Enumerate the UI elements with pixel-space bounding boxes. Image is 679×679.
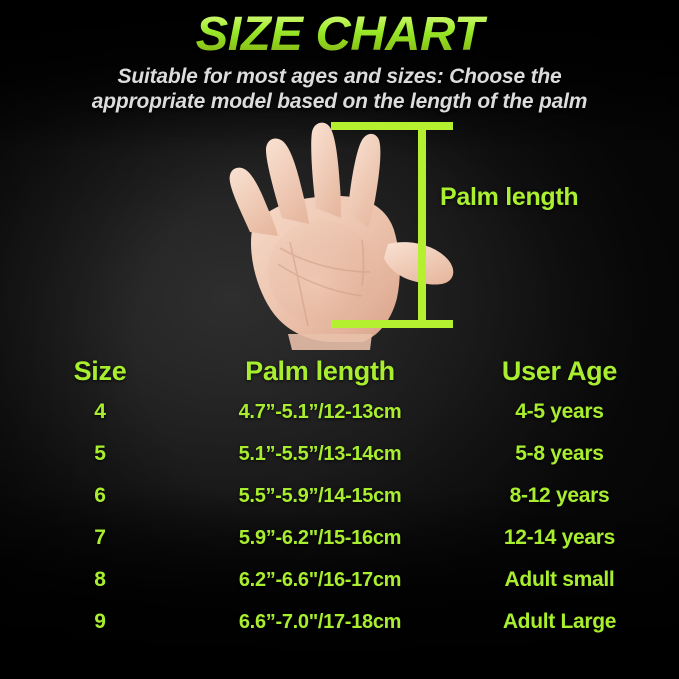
table-row: 8 6.2”-6.6"/16-17cm Adult small — [0, 568, 679, 610]
cell-palm-length: 6.2”-6.6"/16-17cm — [200, 569, 440, 592]
table-row: 4 4.7”-5.1”/12-13cm 4-5 years — [0, 400, 679, 442]
subtitle-line-1: Suitable for most ages and sizes: Choose… — [22, 64, 657, 89]
table-row: 9 6.6”-7.0"/17-18cm Adult Large — [0, 610, 679, 652]
cell-user-age: 5-8 years — [440, 442, 679, 466]
table-row: 7 5.9”-6.2"/15-16cm 12-14 years — [0, 526, 679, 568]
cell-palm-length: 5.9”-6.2"/15-16cm — [200, 527, 440, 550]
cell-user-age: 12-14 years — [440, 526, 679, 550]
cell-user-age: Adult small — [440, 568, 679, 592]
header-size: Size — [0, 356, 200, 387]
subtitle-line-2: appropriate model based on the length of… — [22, 89, 657, 114]
page-title: SIZE CHART — [0, 11, 679, 59]
size-chart-poster: SIZE CHART Suitable for most ages and si… — [0, 0, 679, 679]
finger-pinky — [230, 168, 278, 236]
wrist — [288, 334, 372, 350]
subtitle: Suitable for most ages and sizes: Choose… — [22, 64, 657, 114]
table-header-row: Size Palm length User Age — [0, 356, 679, 400]
hand-illustration — [212, 122, 462, 350]
palm-length-label: Palm length — [440, 183, 578, 212]
cell-size: 8 — [0, 568, 200, 592]
cell-size: 9 — [0, 610, 200, 634]
header-user-age: User Age — [440, 356, 679, 387]
hand-palm-icon — [212, 122, 462, 350]
table-row: 5 5.1”-5.5”/13-14cm 5-8 years — [0, 442, 679, 484]
cell-palm-length: 5.5”-5.9”/14-15cm — [200, 485, 440, 508]
cell-user-age: Adult Large — [440, 610, 679, 634]
cell-size: 5 — [0, 442, 200, 466]
size-table: Size Palm length User Age 4 4.7”-5.1”/12… — [0, 356, 679, 652]
header-palm-length: Palm length — [200, 356, 440, 387]
cell-size: 7 — [0, 526, 200, 550]
finger-middle — [311, 123, 341, 218]
cell-size: 6 — [0, 484, 200, 508]
cell-palm-length: 4.7”-5.1”/12-13cm — [200, 401, 440, 424]
cell-user-age: 8-12 years — [440, 484, 679, 508]
cell-palm-length: 5.1”-5.5”/13-14cm — [200, 443, 440, 466]
cell-palm-length: 6.6”-7.0"/17-18cm — [200, 611, 440, 634]
table-row: 6 5.5”-5.9”/14-15cm 8-12 years — [0, 484, 679, 526]
cell-size: 4 — [0, 400, 200, 424]
cell-user-age: 4-5 years — [440, 400, 679, 424]
